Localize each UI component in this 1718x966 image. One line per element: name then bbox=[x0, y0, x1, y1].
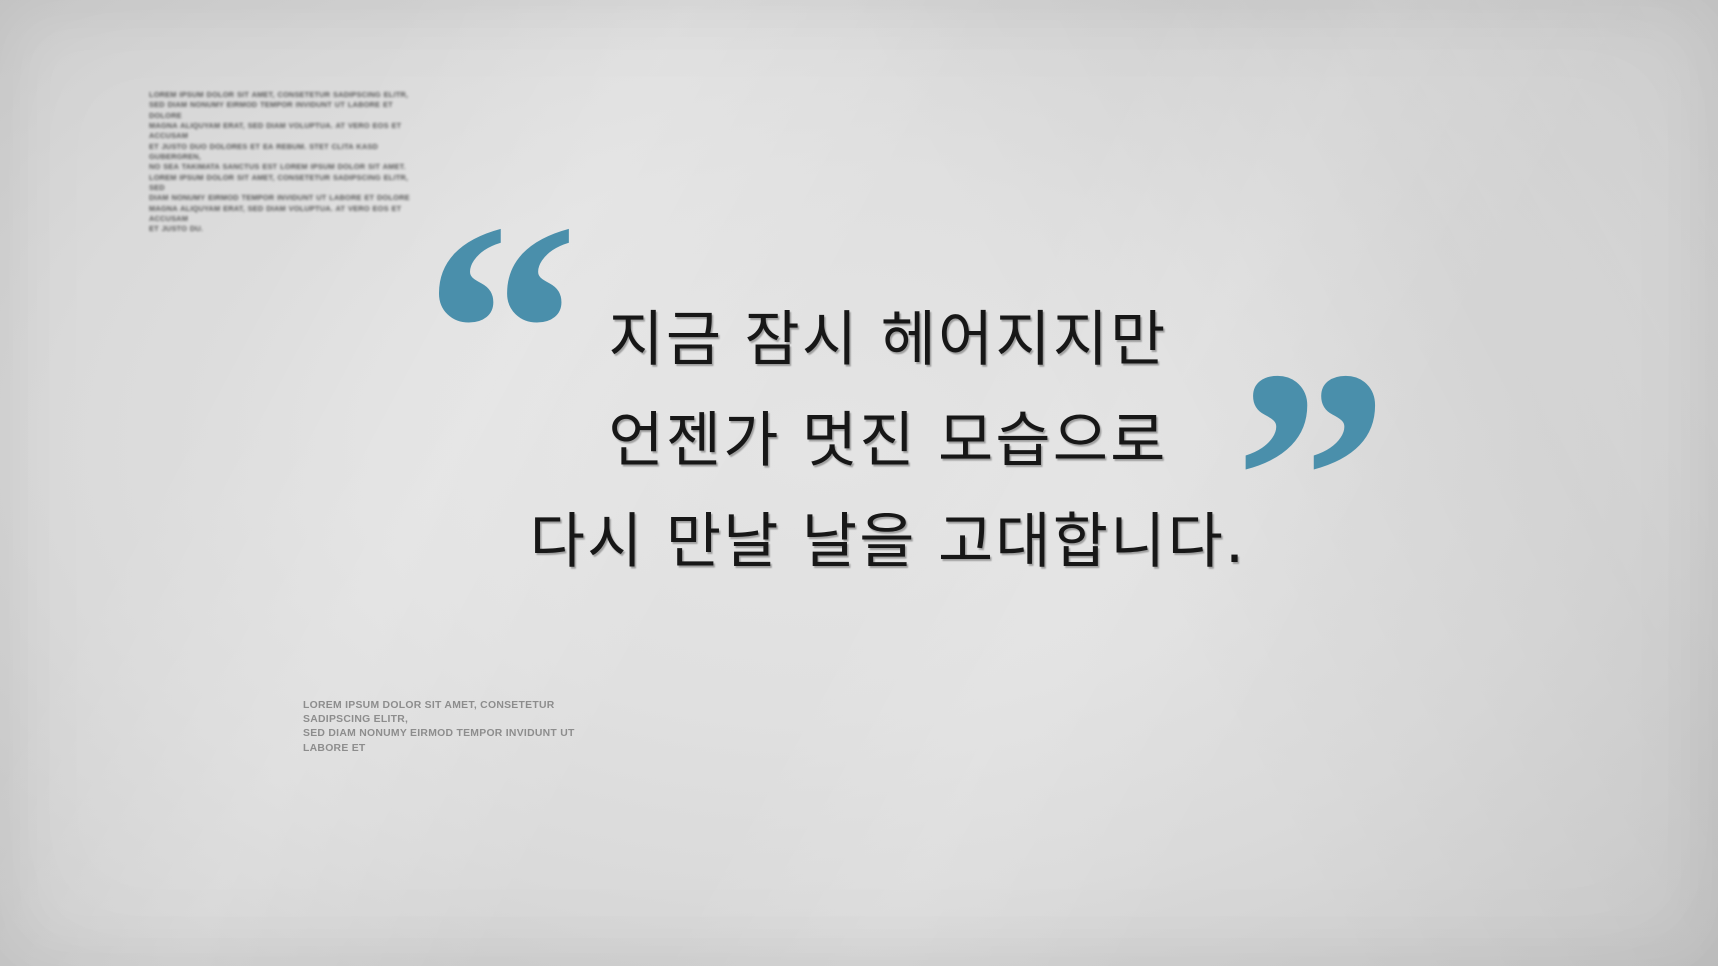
quote-line-3: 다시 만날 날을 고대합니다. bbox=[58, 492, 1718, 593]
quote-line-2: 언젠가 멋진 모습으로 bbox=[58, 391, 1718, 492]
caption-lorem-paragraph: LOREM IPSUM DOLOR SIT AMET, CONSETETUR S… bbox=[303, 699, 603, 756]
quote-body: 지금 잠시 헤어지지만 언젠가 멋진 모습으로 다시 만날 날을 고대합니다. bbox=[0, 290, 1718, 593]
slide-canvas: LOREM IPSUM DOLOR SIT AMET, CONSETETUR S… bbox=[0, 0, 1718, 966]
blurred-lorem-paragraph: LOREM IPSUM DOLOR SIT AMET, CONSETETUR S… bbox=[149, 90, 421, 235]
quote-line-1: 지금 잠시 헤어지지만 bbox=[58, 290, 1718, 391]
